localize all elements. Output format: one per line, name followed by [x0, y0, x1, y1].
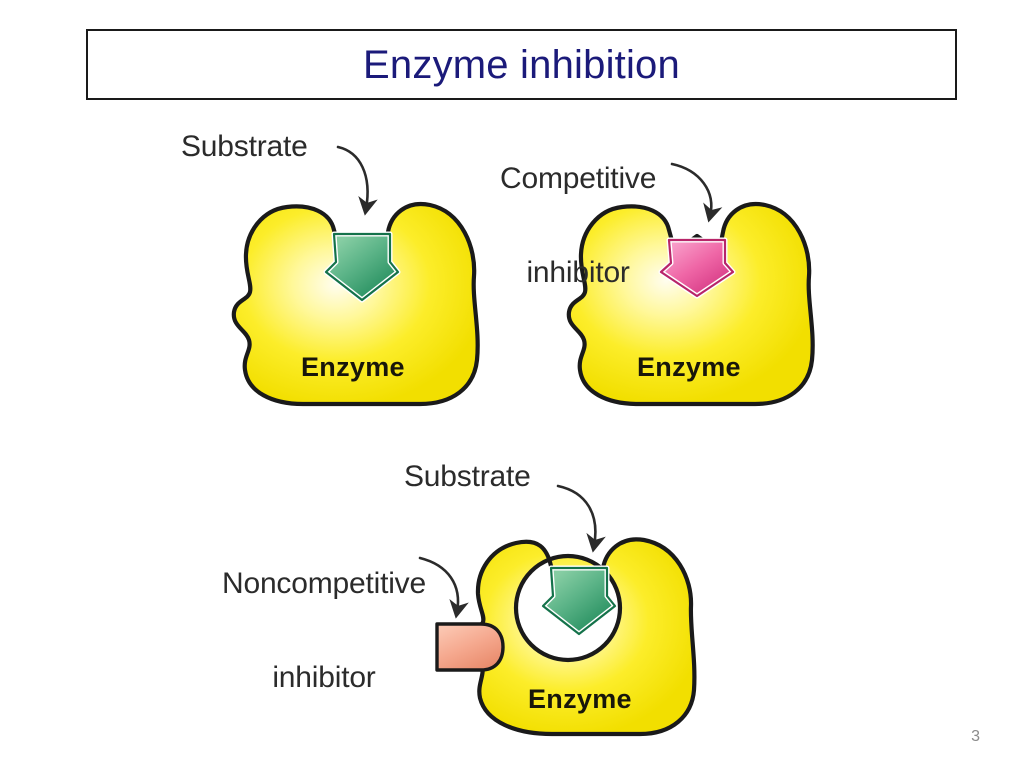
slide-canvas: Enzyme inhibition: [0, 0, 1024, 768]
label-competitive-inhibitor: Competitive inhibitor: [500, 101, 656, 351]
label-noncompetitive-line2: inhibitor: [222, 662, 426, 693]
label-noncompetitive-inhibitor: Noncompetitive inhibitor: [222, 506, 426, 756]
enzyme-label-3: Enzyme: [528, 684, 632, 715]
page-number: 3: [971, 728, 980, 746]
label-noncompetitive-line1: Noncompetitive: [222, 568, 426, 599]
enzyme-label-1: Enzyme: [301, 352, 405, 383]
substrate-arrow-1: [338, 147, 368, 209]
label-competitive-line1: Competitive: [500, 163, 656, 194]
label-substrate-2: Substrate: [404, 461, 531, 492]
substrate-shape-2: [543, 568, 615, 634]
enzyme-label-2: Enzyme: [637, 352, 741, 383]
label-competitive-line2: inhibitor: [500, 257, 656, 288]
substrate-arrow-2: [558, 486, 595, 546]
competitive-inhibitor-arrow: [672, 164, 711, 216]
label-substrate-1: Substrate: [181, 131, 308, 162]
noncompetitive-inhibitor-shape: [437, 624, 503, 670]
